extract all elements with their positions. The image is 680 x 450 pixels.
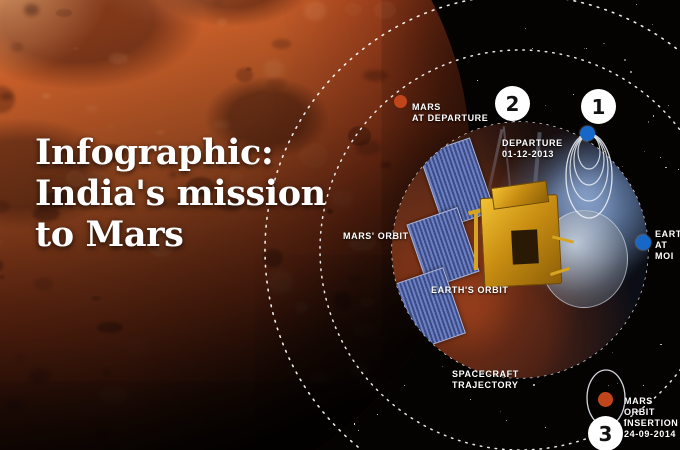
earth-parking-orbits [556,126,636,236]
label-earth-at-moi: EARTH AT MOI [655,229,680,262]
marker-mars-at-insertion [598,392,613,407]
marker-mars-at-departure [394,95,407,108]
marker-earth-at-moi [636,235,651,250]
infographic-canvas: 2 1 3 MARS AT DEPARTURE DEPARTURE 01-12-… [0,0,680,450]
label-earths-orbit: EARTH'S ORBIT [431,285,508,296]
bus-panel-dark [511,229,539,264]
label-spacecraft-trajectory: SPACECRAFT TRAJECTORY [452,369,519,391]
panel-mast [474,210,478,270]
label-mars-at-departure: MARS AT DEPARTURE [412,102,488,124]
marker-earth-at-departure [580,126,595,141]
page-title: Infographic: India's mission to Mars [35,132,326,255]
label-mars-orbit-insertion: MARS ORBIT INSERTION 24-09-2014 [624,396,680,440]
label-mars-orbit: MARS' ORBIT [343,231,409,242]
step-badge-2[interactable]: 2 [495,86,530,121]
label-departure: DEPARTURE 01-12-2013 [502,138,563,160]
step-badge-3[interactable]: 3 [588,416,623,450]
step-badge-1[interactable]: 1 [581,89,616,124]
